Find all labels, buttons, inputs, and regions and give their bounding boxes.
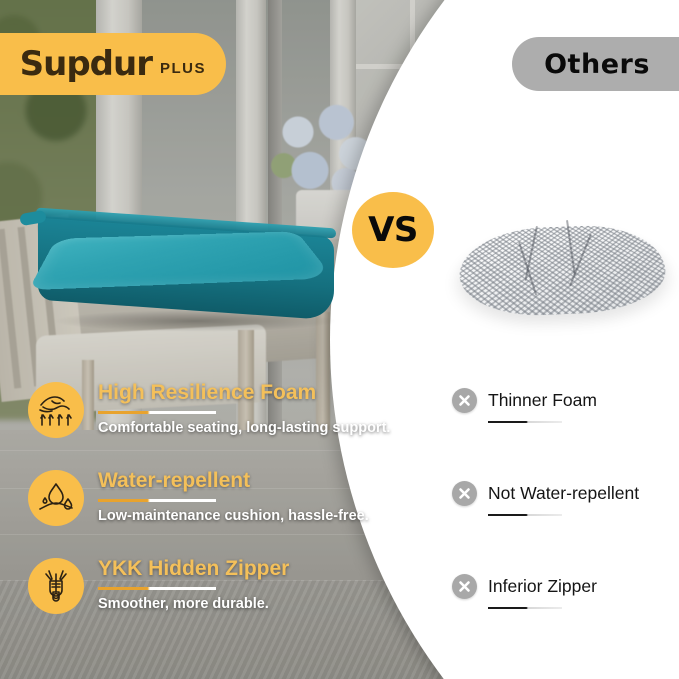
con-item: Inferior Zipper [452, 574, 676, 609]
brand-logo-pill: Supdur PLUS [0, 33, 226, 95]
competitor-header-pill: Others [512, 37, 679, 91]
vs-badge: VS [352, 192, 434, 268]
con-label: Thinner Foam [488, 391, 597, 410]
x-circle-icon [452, 481, 477, 506]
con-label: Not Water-repellent [488, 484, 639, 503]
zipper-icon [28, 558, 84, 614]
competitor-cushion-body [452, 224, 677, 319]
feature-title: YKK Hidden Zipper [98, 558, 388, 580]
feature-desc: Smoother, more durable. [98, 596, 388, 613]
feature-item: Water-repellent Low-maintenance cushion,… [28, 468, 388, 556]
feature-list: High Resilience Foam Comfortable seating… [28, 380, 388, 644]
brand-logo-plus: PLUS [160, 60, 206, 81]
feature-item: YKK Hidden Zipper Smoother, more durable… [28, 556, 388, 644]
con-rule [488, 607, 562, 609]
feature-title: Water-repellent [98, 470, 388, 492]
hand-pressing-foam-icon [28, 382, 84, 438]
comparison-infographic: Supdur PLUS Others VS [0, 0, 679, 679]
feature-desc: Low-maintenance cushion, hassle-free. [98, 508, 388, 525]
feature-rule [98, 587, 216, 590]
x-circle-icon [452, 388, 477, 413]
feature-rule [98, 411, 216, 414]
feature-item: High Resilience Foam Comfortable seating… [28, 380, 388, 468]
vs-label: VS [368, 210, 418, 250]
con-rule [488, 421, 562, 423]
competitor-product-cushion [458, 196, 670, 322]
con-rule [488, 514, 562, 516]
brand-logo-text: Supdur [20, 47, 152, 81]
feature-title: High Resilience Foam [98, 382, 390, 404]
con-item: Not Water-repellent [452, 481, 676, 516]
hero-product-cushion [32, 172, 344, 320]
competitor-con-list: Thinner Foam Not Water-repellent [452, 388, 676, 667]
con-label: Inferior Zipper [488, 577, 597, 596]
water-droplet-repel-icon [28, 470, 84, 526]
con-item: Thinner Foam [452, 388, 676, 423]
feature-rule [98, 499, 216, 502]
feature-desc: Comfortable seating, long-lasting suppor… [98, 420, 390, 437]
x-circle-icon [452, 574, 477, 599]
competitor-header-label: Others [544, 49, 650, 80]
